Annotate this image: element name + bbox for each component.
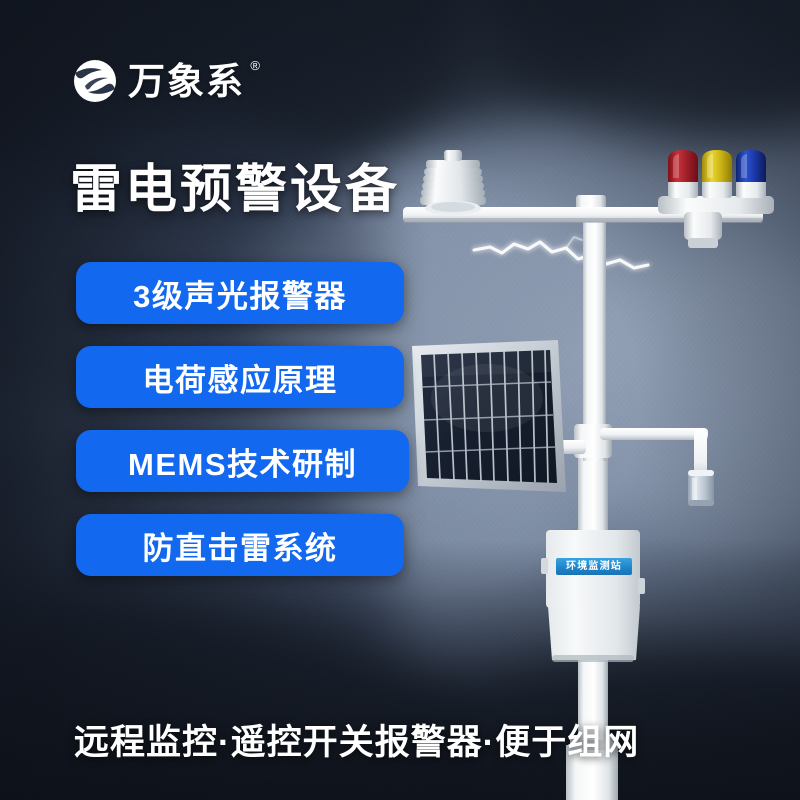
feature-badge-alarm[interactable]: 3级声光报警器 [76,262,404,324]
feature-badge-lightning-protection[interactable]: 防直击雷系统 [76,514,404,576]
swirl-globe-icon [72,58,118,104]
brand-name-wrap: 万象系 ® [128,63,245,100]
feature-badge-list: 3级声光报警器 电荷感应原理 MEMS技术研制 防直击雷系统 [76,262,409,576]
marketing-text-overlay: 万象系 ® 雷电预警设备 3级声光报警器 电荷感应原理 MEMS技术研制 防直击… [0,0,800,800]
brand-name: 万象系 [128,61,245,102]
page-title: 雷电预警设备 [70,162,400,219]
brand-logo[interactable]: 万象系 ® [72,58,245,104]
registered-trademark-icon: ® [250,59,262,72]
feature-badge-mems[interactable]: MEMS技术研制 [76,430,409,492]
feature-badge-charge-induction[interactable]: 电荷感应原理 [76,346,404,408]
footer-tagline: 远程监控·遥控开关报警器·便于组网 [74,714,639,765]
product-marketing-image: 环境监测站 万象系 ® 雷电预警设备 3级声光报警器 电荷感应原理 MEMS技术… [0,0,800,800]
